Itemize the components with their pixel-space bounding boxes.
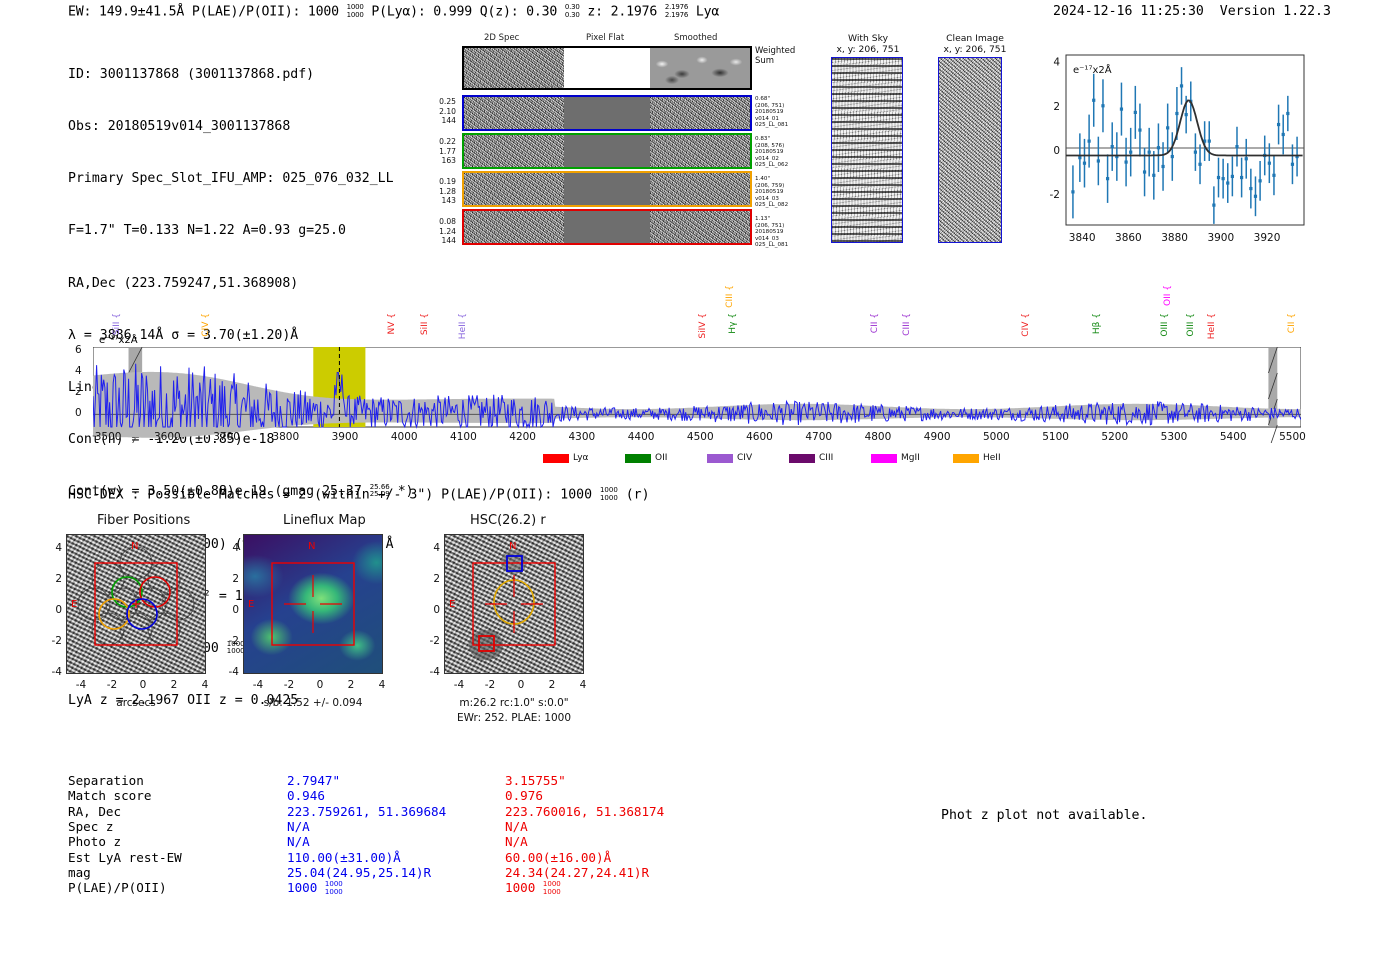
legend-item: CIV [707,453,752,463]
panel-xlabel: m:26.2 rc:1.0" s:0.0" [434,697,594,709]
spectrum-xtick: 4200 [509,431,536,443]
fiber-1-2dspec [464,97,564,129]
qz-fraction: 0.300.30 [565,4,580,19]
panel-ytick: -2 [46,635,62,647]
legend-label: Lyα [573,453,588,463]
legend-swatch [953,454,979,463]
panel-ytick: 2 [424,573,440,585]
hsc-overlay: N E [445,535,583,673]
panel-ytick: 0 [223,604,239,616]
match-col2-value: 223.760016, 51.368174 [505,804,664,819]
weighted-sum-2dspec [464,48,564,88]
panel-ytick: 4 [424,542,440,554]
full-spectrum-svg [93,347,1301,443]
fit-plot-annotation: e⁻¹⁷x2Å [1073,63,1112,76]
hsc-panel-title: HSC(26.2) r [470,513,546,528]
fiber-2-pixelflat [564,135,650,167]
spectrum-xtick: 4300 [568,431,595,443]
match-row-label: mag [68,865,91,880]
emission-line-label: CIII { [902,313,912,336]
spectrum-ytick: 4 [75,365,82,377]
legend-label: CIV [737,453,752,463]
match-col1-value: 25.04(24.95,25.14)R [287,865,431,880]
spectrum-xtick: 4100 [450,431,477,443]
spectrum-xtick: 5000 [983,431,1010,443]
panel-ytick: 4 [46,542,62,554]
match-col2-value: 60.00(±16.00)Å [505,850,611,865]
spectrum-xtick: 4400 [628,431,655,443]
fiber-2-meta: 0.83" (208, 576) 20180519 v014_02 025_LL… [755,136,788,169]
hscdex-title: HSC-DEX : Possible Matches = 2 (within +… [68,487,650,503]
emission-line-label: SiII { [420,313,430,335]
clean-image [938,57,1002,243]
emission-line-label: CII { [1287,313,1297,333]
info-obs: Obs: 20180519v014_3001137868 [68,118,414,135]
fiber-3-meta: 1.40" (206, 759) 20180519 v014_03 025_LL… [755,176,788,209]
match-row-label: P(LAE)/P(OII) [68,880,167,895]
emission-line-label: HeII { [458,313,468,339]
panel-xtick: -2 [280,679,298,691]
legend-label: MgII [901,453,920,463]
panel-ytick: -2 [223,635,239,647]
match-col1-value: 1000 10001000 [287,880,343,896]
panel-xtick: -2 [481,679,499,691]
svg-text:E: E [248,599,254,610]
match-row-label: Spec z [68,819,114,834]
panel-ytick: -2 [424,635,440,647]
panel-ytick: 0 [424,604,440,616]
match-row-label: Separation [68,773,144,788]
emission-line-label: OIII { [1160,313,1170,337]
panel-xtick: 4 [574,679,592,691]
fiber-2-smoothed [650,135,750,167]
clean-image-title: Clean Image x, y: 206, 751 [925,33,1025,55]
lineflux-map-image: N E [243,534,383,674]
fiber-3-nums: 0.19 1.28 143 [416,177,456,206]
legend-label: HeII [983,453,1001,463]
emission-line-label: CII { [870,313,880,333]
match-col1-value: N/A [287,834,310,849]
panel-xtick: 2 [543,679,561,691]
fiber-1-meta: 0.68" (206, 751) 20180519 v014_01 025_LL… [755,96,788,129]
panel-ytick: 2 [46,573,62,585]
fiber-rows: 0.25 2.10 144 0.22 1.77 163 0.19 1.28 14… [462,95,752,245]
info-params: F=1.7" T=0.133 N=1.22 A=0.93 g=25.0 [68,222,414,239]
match-row-label: Match score [68,788,151,803]
legend-label: CIII [819,453,833,463]
legend-item: Lyα [543,453,588,463]
spec2d-column-headers: 2D Spec Pixel Flat Smoothed [462,33,752,46]
match-col1-plae-fraction: 10001000 [325,881,343,896]
panel-xlabel: s/b: 1.52 +/- 0.094 [233,697,393,709]
weighted-sum-strip [462,46,752,90]
fiber-row-4 [462,209,752,245]
legend-item: HeII [953,453,1001,463]
svg-text:3900: 3900 [1207,232,1234,244]
panel-ytick: -4 [223,666,239,678]
svg-text:3880: 3880 [1161,232,1188,244]
panel-xlabel: arcsecs [56,697,216,709]
spectrum-xtick: 5100 [1042,431,1069,443]
lineflux-map-overlay: N E [244,535,382,673]
panel-xtick: 4 [373,679,391,691]
fiber-3-smoothed [650,173,750,205]
z-fraction: 2.19762.1976 [665,4,688,19]
panel-xtick: 2 [165,679,183,691]
spectrum-xtick: 5500 [1279,431,1306,443]
info-radec: RA,Dec (223.759247,51.368908) [68,275,414,292]
header-summary-z: z: 2.1976 [580,5,665,20]
legend-swatch [789,454,815,463]
match-col2-value: N/A [505,834,528,849]
spectrum-xtick: 3700 [213,431,240,443]
emission-line-label: CIV { [201,313,211,337]
fiber-positions-overlay: N E [67,535,205,673]
panel-ytick: 0 [46,604,62,616]
lineflux-map-title: Lineflux Map [283,513,366,528]
emission-line-label: CIII { [725,285,735,308]
fiber-4-nums: 0.08 1.24 144 [416,217,456,246]
emission-line-label: CIV { [1021,313,1031,337]
panel-ytick: -4 [424,666,440,678]
spectrum-ytick: 2 [75,386,82,398]
match-row-label: RA, Dec [68,804,121,819]
match-col2-value: 1000 10001000 [505,880,561,896]
match-col2-value: N/A [505,819,528,834]
match-row-label: Est LyA rest-EW [68,850,182,865]
panel-xtick: -4 [249,679,267,691]
col-header-pixelflat: Pixel Flat [586,33,624,43]
info-id: ID: 3001137868 (3001137868.pdf) [68,66,414,83]
fiber-2-nums: 0.22 1.77 163 [416,137,456,166]
panel-xtick: 0 [311,679,329,691]
header-summary: EW: 149.9±41.5Å P(LAE)/P(OII): 1000 1000… [68,4,719,20]
fiber-positions-title: Fiber Positions [97,513,190,528]
fiber-row-2 [462,133,752,169]
emission-line-label: SiIV { [698,313,708,339]
legend-swatch [543,454,569,463]
col-header-smoothed: Smoothed [674,33,717,43]
legend-item: MgII [871,453,920,463]
legend-swatch [871,454,897,463]
svg-text:E: E [71,599,77,610]
emission-line-label: Hβ { [1092,313,1102,334]
panel-xtick: -2 [103,679,121,691]
match-col1-value: 223.759261, 51.369684 [287,804,446,819]
weighted-sum-pixelflat [564,48,650,88]
panel-xtick: -4 [72,679,90,691]
svg-text:3840: 3840 [1069,232,1096,244]
spectrum-xtick: 4600 [746,431,773,443]
panel-ytick: 4 [223,542,239,554]
hsc-image: N E [444,534,584,674]
spectrum-xtick: 3500 [95,431,122,443]
line-fit-plot: -2024 38403860388039003920 e⁻¹⁷x2Å [1040,53,1308,225]
plae-fraction: 10001000 [347,4,364,19]
match-col1-value: 2.7947" [287,773,340,788]
spectrum-annotation: e⁻¹⁷x2Å [99,335,138,346]
panel-xtick: 4 [196,679,214,691]
fiber-4-2dspec [464,211,564,243]
svg-text:4: 4 [1053,57,1060,69]
match-row-label: Photo z [68,834,121,849]
svg-text:3860: 3860 [1115,232,1142,244]
emission-line-label: HeII { [1207,313,1217,339]
fiber-row-3 [462,171,752,207]
spectrum-xtick: 5200 [1101,431,1128,443]
hscdex-plae-fraction: 10001000 [600,487,618,502]
spectrum-xtick: 3800 [272,431,299,443]
svg-text:3920: 3920 [1254,232,1281,244]
fiber-1-smoothed [650,97,750,129]
fiber-1-pixelflat [564,97,650,129]
legend-swatch [625,454,651,463]
info-slot: Primary Spec_Slot_IFU_AMP: 025_076_032_L… [68,170,414,187]
panel-ytick: 2 [223,573,239,585]
svg-text:N: N [509,541,516,552]
spectrum-xtick: 4900 [924,431,951,443]
match-col2-value: 0.976 [505,788,543,803]
emission-line-label: NV { [387,313,397,334]
panel-xtick: 0 [134,679,152,691]
spectrum-xtick: 5300 [1161,431,1188,443]
timestamp: 2024-12-16 11:25:30 [1053,4,1204,19]
emission-line-label: SiII { [112,313,122,335]
col-header-2dspec: 2D Spec [484,33,519,43]
header-timestamp-version: 2024-12-16 11:25:30 Version 1.22.3 [1053,4,1331,19]
panel-sublabel: EWr: 252. PLAE: 1000 [434,712,594,724]
header-summary-mid: P(Lyα): 0.999 Q(z): 0.30 [364,5,565,20]
photz-message: Phot z plot not available. [941,808,1147,823]
legend-item: OII [625,453,667,463]
svg-text:E: E [449,599,455,610]
legend-item: CIII [789,453,833,463]
with-sky-title: With Sky x, y: 206, 751 [823,33,913,55]
match-col2-plae-fraction: 10001000 [543,881,561,896]
emission-line-label: OII { [1163,285,1173,306]
spectrum-xtick: 4000 [391,431,418,443]
fiber-4-pixelflat [564,211,650,243]
svg-text:0: 0 [1053,145,1060,157]
panel-xtick: -4 [450,679,468,691]
match-col1-value: 110.00(±31.00)Å [287,850,401,865]
fiber-3-2dspec [464,173,564,205]
fiber-4-smoothed [650,211,750,243]
weighted-sum-smoothed [650,48,750,88]
spectrum-xtick: 4700 [805,431,832,443]
header-summary-suffix: Lyα [688,5,719,20]
panel-xtick: 0 [512,679,530,691]
svg-text:2: 2 [1053,101,1060,113]
match-col1-value: 0.946 [287,788,325,803]
emission-line-label: Hγ { [728,313,738,334]
weighted-sum-label: Weighted Sum [755,47,795,66]
line-fit-svg: -2024 38403860388039003920 e⁻¹⁷x2Å [1040,53,1308,253]
legend-label: OII [655,453,667,463]
match-col2-value: 3.15755" [505,773,566,788]
spectrum-xtick: 3900 [332,431,359,443]
spectrum-xtick: 3600 [154,431,181,443]
legend-swatch [707,454,733,463]
svg-text:N: N [131,541,138,552]
spectrum-xtick: 4500 [687,431,714,443]
spec2d-panel: 2D Spec Pixel Flat Smoothed Weighted Sum [462,33,752,245]
panel-ytick: -4 [46,666,62,678]
spectrum-xtick: 4800 [865,431,892,443]
spectrum-ytick: 0 [75,407,82,419]
fiber-row-1 [462,95,752,131]
match-col1-value: N/A [287,819,310,834]
match-col2-value: 24.34(24.27,24.41)R [505,865,649,880]
spectrum-ytick: 6 [75,344,82,356]
header-summary-prefix: EW: 149.9±41.5Å P(LAE)/P(OII): 1000 [68,5,347,20]
fiber-1-nums: 0.25 2.10 144 [416,97,456,126]
emission-line-label: OIII { [1186,313,1196,337]
version-label: Version 1.22.3 [1220,4,1331,19]
panel-xtick: 2 [342,679,360,691]
spectrum-xtick: 5400 [1220,431,1247,443]
svg-text:N: N [308,541,315,552]
fiber-3-pixelflat [564,173,650,205]
svg-text:-2: -2 [1050,189,1060,201]
full-spectrum-plot: 0246 35003600370038003900400041004200430… [93,347,1301,427]
fiber-4-meta: 1.13" (206, 751) 20180519 v014_03 025_LL… [755,216,788,249]
fiber-2-2dspec [464,135,564,167]
with-sky-image [831,57,903,243]
fiber-positions-image: N E [66,534,206,674]
